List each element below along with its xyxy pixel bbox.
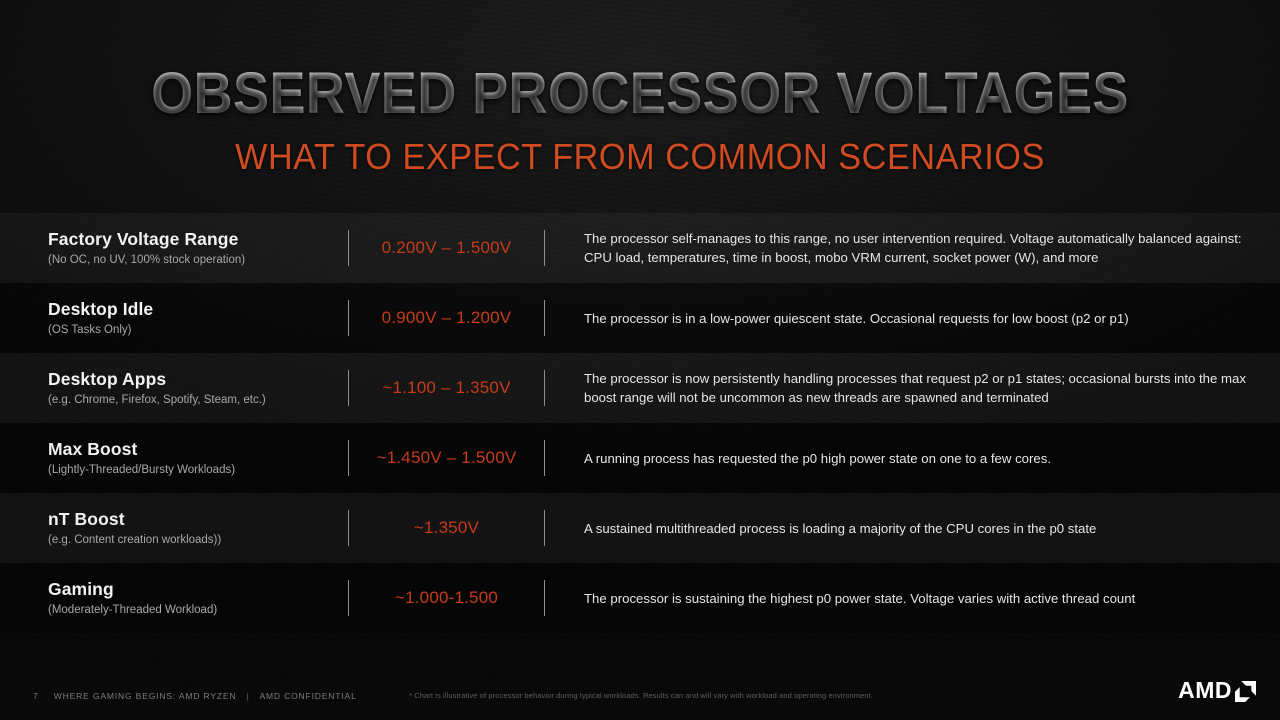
row-scenario-title: Max Boost [48, 439, 348, 460]
footnote-text: * Chart is illustrative of processor beh… [409, 691, 873, 700]
row-voltage-value: ~1.450V – 1.500V [349, 448, 544, 468]
row-voltage-value: ~1.100 – 1.350V [349, 378, 544, 398]
row-scenario-title: Desktop Idle [48, 299, 348, 320]
slide-root: OBSERVED PROCESSOR VOLTAGES WHAT TO EXPE… [0, 0, 1280, 720]
row-scenario-subtitle: (e.g. Content creation workloads)) [48, 532, 348, 548]
amd-logo: AMD [1178, 679, 1256, 702]
row-scenario: Factory Voltage Range(No OC, no UV, 100%… [0, 229, 348, 268]
row-scenario: Desktop Apps(e.g. Chrome, Firefox, Spoti… [0, 369, 348, 408]
page-number: 7 [33, 691, 39, 701]
row-scenario-subtitle: (Moderately-Threaded Workload) [48, 602, 348, 618]
table-row: Max Boost(Lightly-Threaded/Bursty Worklo… [0, 423, 1280, 493]
row-scenario: Gaming(Moderately-Threaded Workload) [0, 579, 348, 618]
page-subtitle: WHAT TO EXPECT FROM COMMON SCENARIOS [32, 136, 1248, 178]
row-scenario-title: Gaming [48, 579, 348, 600]
row-voltage-value: ~1.350V [349, 518, 544, 538]
row-voltage-value: 0.900V – 1.200V [349, 308, 544, 328]
footer-meta: 7 WHERE GAMING BEGINS: AMD RYZEN | AMD C… [33, 691, 357, 701]
row-scenario-subtitle: (OS Tasks Only) [48, 322, 348, 338]
row-scenario-subtitle: (No OC, no UV, 100% stock operation) [48, 252, 348, 268]
row-description: A running process has requested the p0 h… [545, 449, 1280, 468]
footer-separator: | [247, 691, 250, 701]
row-scenario: nT Boost(e.g. Content creation workloads… [0, 509, 348, 548]
row-description: The processor self-manages to this range… [545, 229, 1280, 267]
row-scenario-title: nT Boost [48, 509, 348, 530]
table-row: Desktop Idle(OS Tasks Only)0.900V – 1.20… [0, 283, 1280, 353]
row-scenario: Max Boost(Lightly-Threaded/Bursty Worklo… [0, 439, 348, 478]
voltage-table: Factory Voltage Range(No OC, no UV, 100%… [0, 213, 1280, 633]
row-description: The processor is sustaining the highest … [545, 589, 1280, 608]
slide-header: OBSERVED PROCESSOR VOLTAGES WHAT TO EXPE… [0, 0, 1280, 205]
confidential-label: AMD CONFIDENTIAL [259, 691, 356, 701]
row-scenario-subtitle: (Lightly-Threaded/Bursty Workloads) [48, 462, 348, 478]
amd-arrow-icon [1235, 681, 1256, 702]
deck-name: WHERE GAMING BEGINS: AMD RYZEN [54, 691, 237, 701]
slide-footer: 7 WHERE GAMING BEGINS: AMD RYZEN | AMD C… [0, 672, 1280, 720]
table-row: Factory Voltage Range(No OC, no UV, 100%… [0, 213, 1280, 283]
page-title: OBSERVED PROCESSOR VOLTAGES [45, 62, 1235, 126]
row-description: The processor is now persistently handli… [545, 369, 1280, 407]
row-voltage-value: 0.200V – 1.500V [349, 238, 544, 258]
row-scenario: Desktop Idle(OS Tasks Only) [0, 299, 348, 338]
table-row: Desktop Apps(e.g. Chrome, Firefox, Spoti… [0, 353, 1280, 423]
row-description: A sustained multithreaded process is loa… [545, 519, 1280, 538]
row-scenario-title: Desktop Apps [48, 369, 348, 390]
table-row: nT Boost(e.g. Content creation workloads… [0, 493, 1280, 563]
row-scenario-subtitle: (e.g. Chrome, Firefox, Spotify, Steam, e… [48, 392, 348, 408]
row-description: The processor is in a low-power quiescen… [545, 309, 1280, 328]
row-scenario-title: Factory Voltage Range [48, 229, 348, 250]
amd-logo-text: AMD [1178, 679, 1232, 702]
row-voltage-value: ~1.000-1.500 [349, 588, 544, 608]
table-row: Gaming(Moderately-Threaded Workload)~1.0… [0, 563, 1280, 633]
